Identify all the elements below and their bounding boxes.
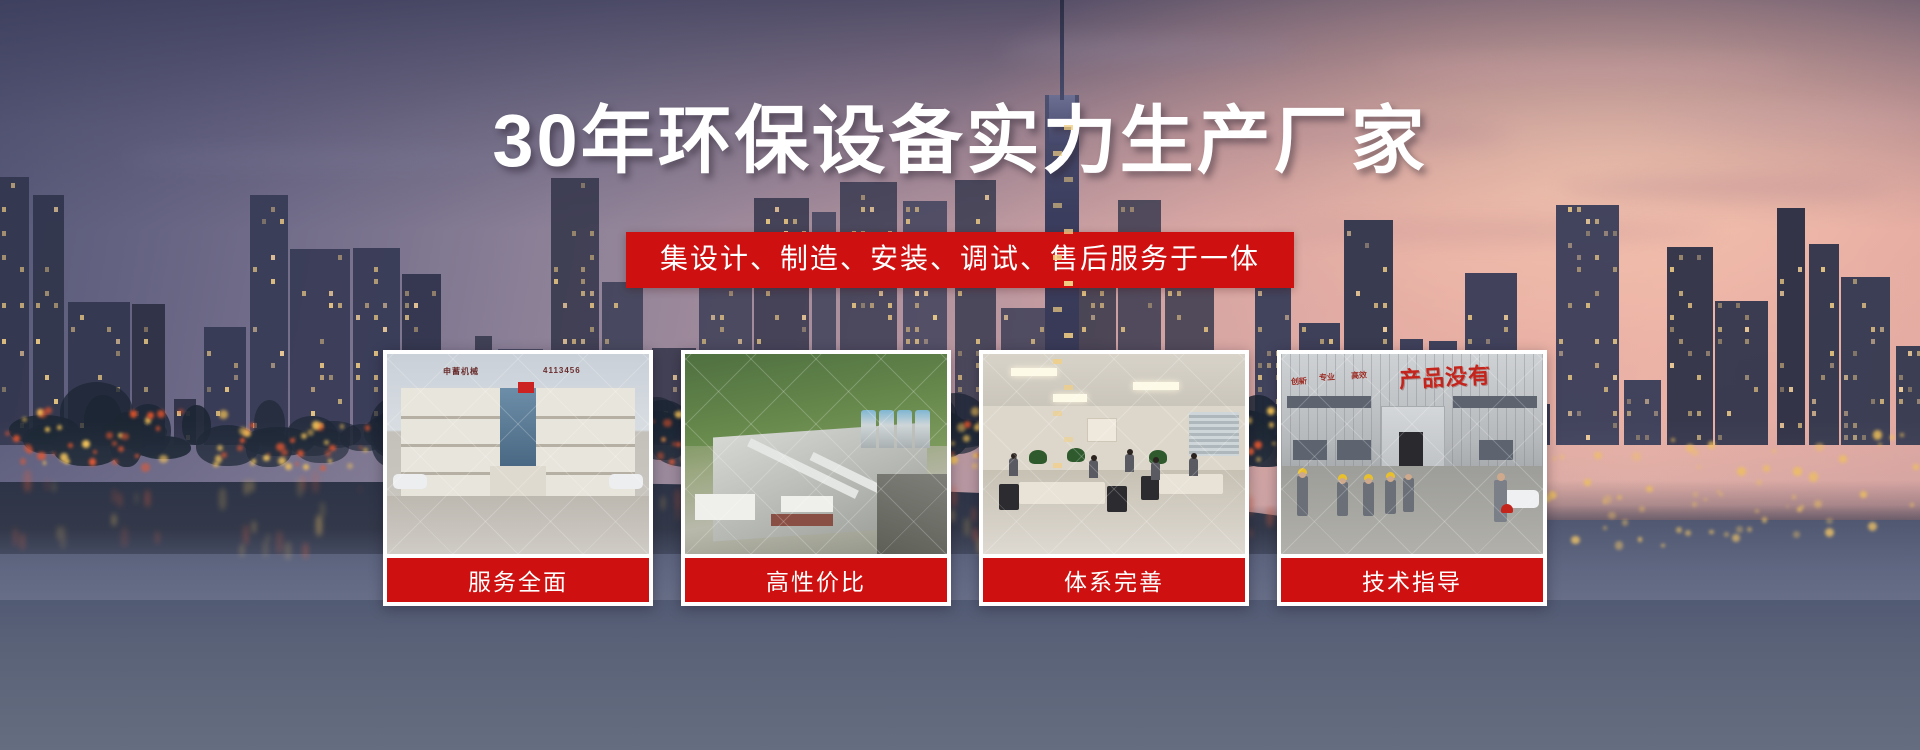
page-title: 30年环保设备实力生产厂家 — [0, 104, 1920, 178]
aerial-industrial-plant-photo — [685, 354, 947, 554]
tower-light — [1064, 281, 1073, 286]
tower-light — [1064, 437, 1073, 442]
subtitle-ribbon: 集设计、制造、安装、调试、售后服务于一体 — [626, 232, 1294, 288]
shore-light — [178, 409, 183, 414]
feature-card-system[interactable]: 体系完善 — [979, 350, 1249, 606]
feature-card-value[interactable]: 高性价比 — [681, 350, 951, 606]
tower-light — [1053, 151, 1062, 156]
workshop-slogan-small: 专业 — [1319, 371, 1336, 383]
company-headquarters-building-photo: 申蓄机械 4113456 — [387, 354, 649, 554]
feature-card-row: 申蓄机械 4113456 服务全面 — [383, 350, 1547, 606]
hero-banner: 30年环保设备实力生产厂家 集设计、制造、安装、调试、售后服务于一体 申蓄机械 … — [0, 0, 1920, 750]
tower-light — [1064, 385, 1073, 390]
feature-card-caption: 体系完善 — [983, 558, 1245, 602]
tower-light — [1053, 463, 1062, 468]
tower-light — [1064, 229, 1073, 234]
workshop-slogan-small: 创新 — [1291, 375, 1308, 387]
tower-light — [1053, 359, 1062, 364]
office-interior-staff-photo — [983, 354, 1245, 554]
feature-card-service[interactable]: 申蓄机械 4113456 服务全面 — [383, 350, 653, 606]
feature-card-caption: 服务全面 — [387, 558, 649, 602]
feature-card-caption: 高性价比 — [685, 558, 947, 602]
workshop-slogan-text: 产品没有 — [1398, 358, 1492, 395]
workshop-workers-training-photo: 产品没有 创新 专业 高效 — [1281, 354, 1543, 554]
tower-light — [1064, 333, 1073, 338]
feature-card-caption: 技术指导 — [1281, 558, 1543, 602]
tower-light — [1064, 125, 1073, 130]
tower-light — [1053, 255, 1062, 260]
photo-phone-text: 4113456 — [543, 366, 581, 375]
shore-light — [130, 410, 138, 418]
tower-light — [1053, 307, 1062, 312]
shore-light — [147, 412, 154, 419]
photo-logo-text: 申蓄机械 — [443, 366, 479, 377]
tower-light — [1053, 203, 1062, 208]
tower-light — [1053, 411, 1062, 416]
workshop-slogan-small: 高效 — [1351, 369, 1368, 381]
feature-card-guidance[interactable]: 产品没有 创新 专业 高效 — [1277, 350, 1547, 606]
tower-light — [1064, 177, 1073, 182]
shore-light — [219, 410, 228, 419]
